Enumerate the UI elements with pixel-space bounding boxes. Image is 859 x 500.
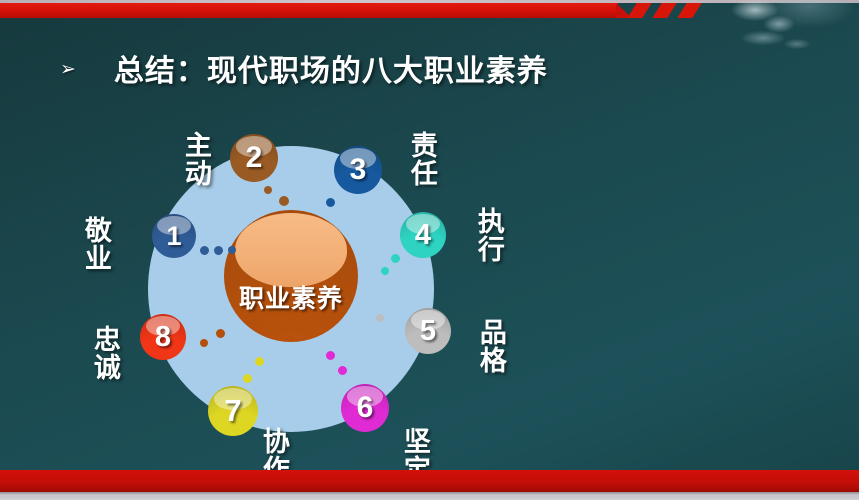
diagram-outer-label: 主动 xyxy=(179,131,211,187)
trail-dot xyxy=(216,329,225,338)
diagram-outer-label: 敬业 xyxy=(79,216,111,272)
trail-dot xyxy=(200,339,208,347)
diagram-node-number: 7 xyxy=(224,393,241,429)
diagram-node-2[interactable]: 2 xyxy=(230,134,278,182)
trail-dot xyxy=(326,198,335,207)
banner-slash-icon xyxy=(677,3,701,18)
diagram-node-8[interactable]: 8 xyxy=(140,314,186,360)
diagram-node-3[interactable]: 3 xyxy=(334,146,382,194)
bottom-highlight-strip xyxy=(0,492,859,500)
bottom-red-banner xyxy=(0,470,859,492)
diagram-node-number: 4 xyxy=(415,219,431,252)
trail-dot xyxy=(376,314,384,322)
diagram-node-number: 5 xyxy=(420,315,436,348)
diagram-core-label: 职业素养 xyxy=(224,279,358,315)
diagram-node-7[interactable]: 7 xyxy=(208,386,258,436)
diagram-outer-label: 执行 xyxy=(472,207,504,263)
diagram-node-6[interactable]: 6 xyxy=(341,384,389,432)
trail-dot xyxy=(279,196,289,206)
trail-dot xyxy=(228,246,236,254)
trail-dot xyxy=(391,254,400,263)
page-title: 总结：现代职场的八大职业素养 xyxy=(114,46,548,90)
trail-dot xyxy=(243,374,252,383)
trail-dot xyxy=(255,357,264,366)
diagram-node-number: 1 xyxy=(166,221,181,252)
diagram-outer-label: 责任 xyxy=(405,131,437,187)
bullet-arrow-icon: ➢ xyxy=(60,60,76,79)
trail-dot xyxy=(338,366,347,375)
trail-dot xyxy=(264,186,272,194)
diagram-node-4[interactable]: 4 xyxy=(400,212,446,258)
diagram-node-1[interactable]: 1 xyxy=(152,214,196,258)
diagram-node-number: 3 xyxy=(350,153,367,187)
diagram-node-number: 2 xyxy=(246,141,263,175)
title-row: ➢ 总结：现代职场的八大职业素养 xyxy=(60,46,548,90)
diagram-node-number: 8 xyxy=(155,321,171,354)
diagram-node-5[interactable]: 5 xyxy=(405,308,451,354)
trail-dot xyxy=(200,246,209,255)
trail-dot xyxy=(214,246,223,255)
diagram-outer-label: 品格 xyxy=(474,318,506,374)
diagram-node-number: 6 xyxy=(357,391,374,425)
professional-quality-diagram: 职业素养 12345678 xyxy=(148,146,434,432)
trail-dot xyxy=(326,351,335,360)
banner-slash-icon xyxy=(652,3,676,18)
top-red-banner xyxy=(0,3,618,18)
diagram-outer-label: 忠诚 xyxy=(88,325,120,381)
diagram-core-sphere: 职业素养 xyxy=(224,210,358,342)
trail-dot xyxy=(381,267,389,275)
slide-canvas: ➢ 总结：现代职场的八大职业素养 职业素养 12345678 主动责任敬业执行忠… xyxy=(0,0,859,500)
